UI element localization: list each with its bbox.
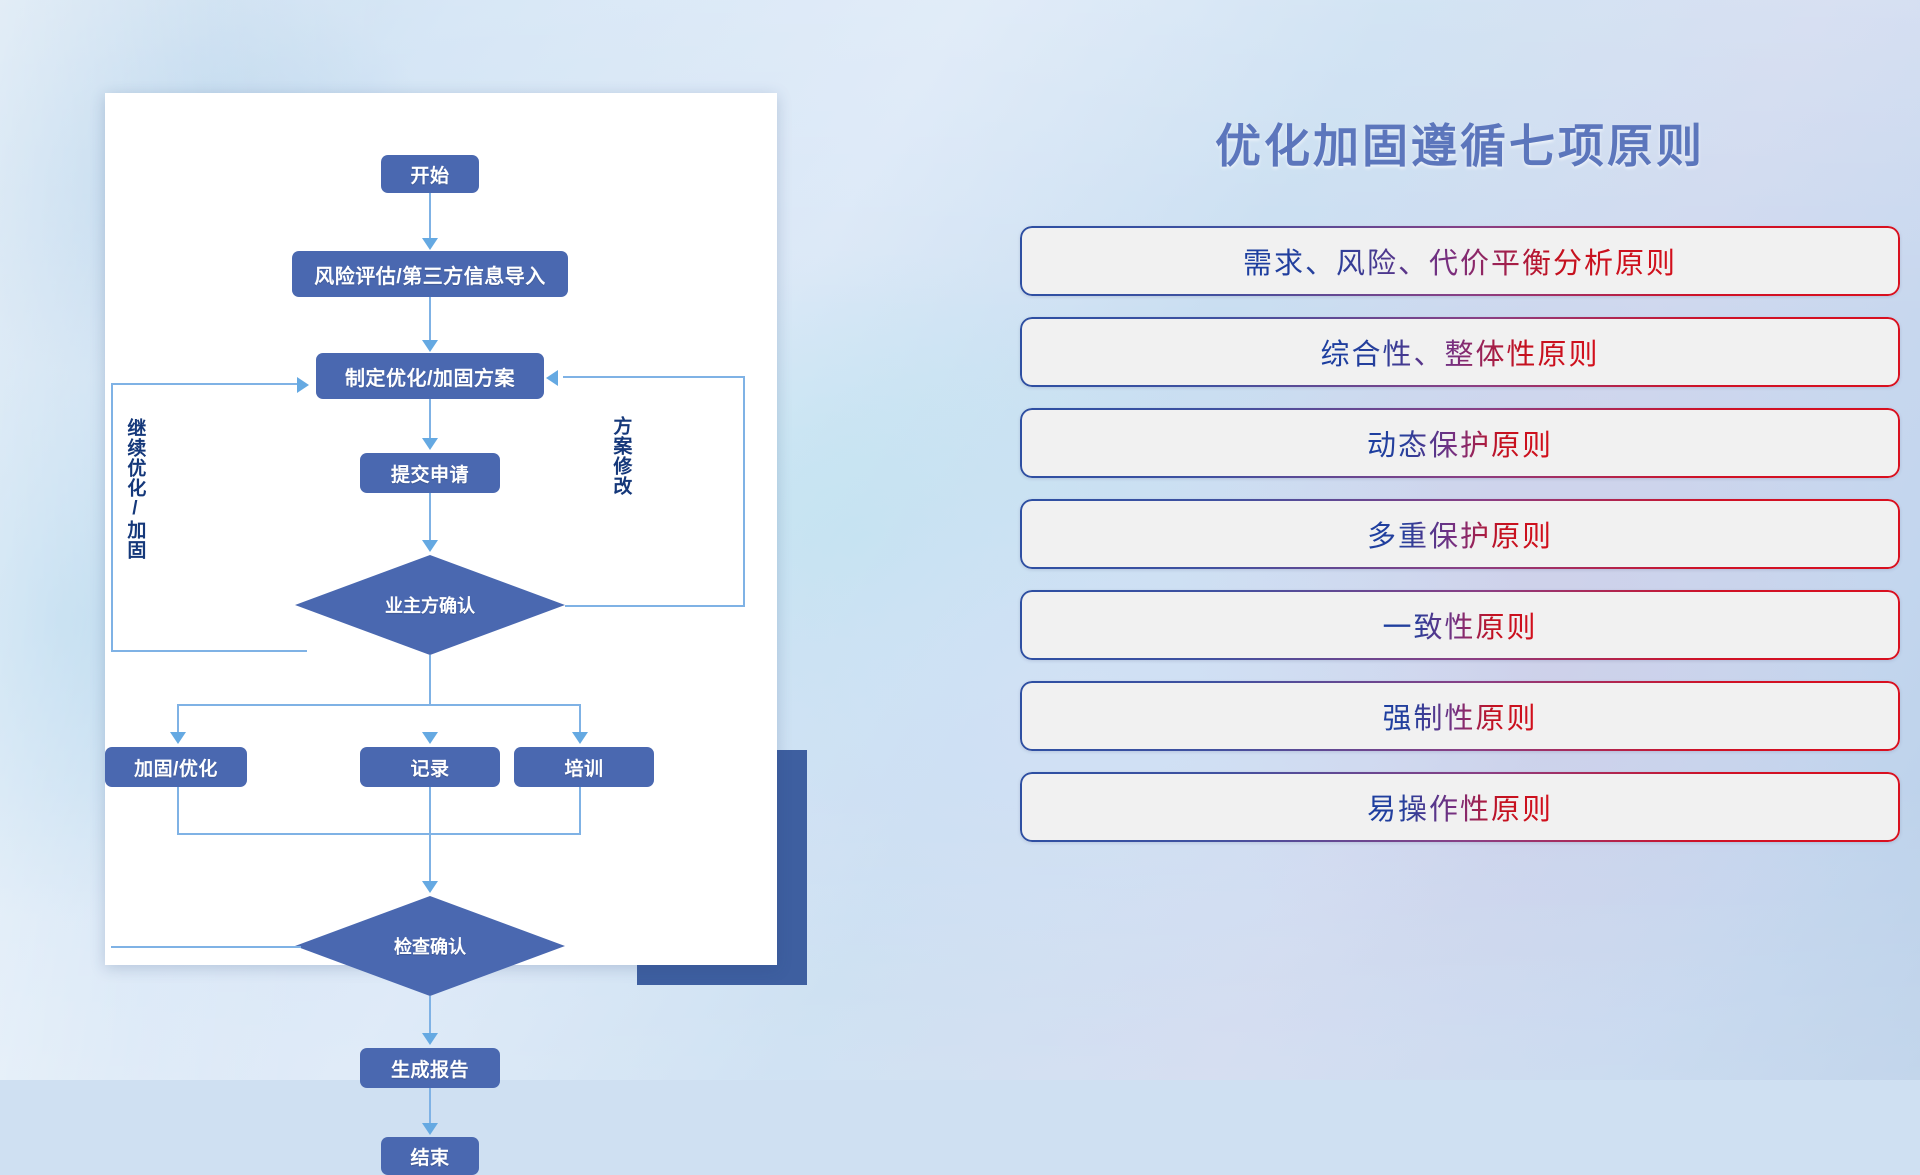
principles-list: 需求、风险、代价平衡分析原则 综合性、整体性原则 动态保护原则 多重保护原则 一… [1020, 226, 1900, 863]
arrow-to-reinforce-icon [170, 732, 186, 744]
arrow-to-record-icon [422, 732, 438, 744]
principle-card-2-label: 综合性、整体性原则 [1320, 331, 1599, 373]
flow-node-risk-assessment[interactable]: 风险评估/第三方信息导入 [292, 251, 568, 297]
flow-node-record-label: 记录 [410, 754, 449, 781]
page-title: 优化加固遵循七项原则 [1020, 110, 1900, 176]
flowchart-panel: 开始 风险评估/第三方信息导入 制定优化/加固方案 提交申请 业主方确认 [0, 0, 820, 1080]
flow-node-owner-confirm-label: 业主方确认 [385, 592, 475, 618]
flow-node-reinforce[interactable]: 加固/优化 [105, 747, 247, 787]
principle-card-3[interactable]: 动态保护原则 [1020, 408, 1900, 478]
flow-node-risk-assessment-label: 风险评估/第三方信息导入 [314, 260, 546, 289]
edge-check-to-report [429, 996, 431, 1036]
edge-fanout-left [177, 704, 179, 735]
edge-fanout-top [177, 704, 581, 706]
flow-node-end-label: 结束 [410, 1143, 449, 1170]
arrow-left-loop-to-plan-icon [297, 377, 309, 393]
flow-node-submit[interactable]: 提交申请 [360, 453, 500, 493]
flow-node-owner-confirm[interactable]: 业主方确认 [295, 555, 565, 655]
flow-node-training[interactable]: 培训 [514, 747, 654, 787]
principle-card-2[interactable]: 综合性、整体性原则 [1020, 317, 1900, 387]
edge-confirm-down-stem [429, 655, 431, 704]
edge-plan-to-submit [429, 399, 431, 443]
edge-right-loop-vertical [743, 376, 745, 607]
arrow-check-to-report-icon [422, 1033, 438, 1045]
principle-card-4[interactable]: 多重保护原则 [1020, 499, 1900, 569]
edge-label-plan-revision-text: 方案修改 [610, 416, 631, 496]
edge-fanout-right [579, 704, 581, 735]
principles-panel: 优化加固遵循七项原则 需求、风险、代价平衡分析原则 综合性、整体性原则 动态保护… [1020, 0, 1920, 1080]
flow-node-plan-label: 制定优化/加固方案 [345, 362, 515, 391]
edge-reinforce-down [177, 787, 179, 835]
principle-card-3-label: 动态保护原则 [1367, 422, 1553, 464]
arrow-risk-to-plan-icon [422, 340, 438, 352]
flow-node-report[interactable]: 生成报告 [360, 1048, 500, 1088]
flow-node-training-label: 培训 [564, 754, 603, 781]
principle-card-5[interactable]: 一致性原则 [1020, 590, 1900, 660]
flow-node-check[interactable]: 检查确认 [295, 896, 565, 996]
flow-node-check-label: 检查确认 [394, 933, 466, 959]
arrow-to-train-icon [572, 732, 588, 744]
edge-label-continue-optimize: 继续优化/加固 [125, 418, 144, 560]
flow-node-start-label: 开始 [410, 161, 449, 188]
flowchart-card: 开始 风险评估/第三方信息导入 制定优化/加固方案 提交申请 业主方确认 [105, 93, 777, 965]
principle-card-1-label: 需求、风险、代价平衡分析原则 [1243, 240, 1677, 282]
edge-right-loop-top [563, 376, 745, 378]
principle-card-6-label: 强制性原则 [1382, 695, 1537, 737]
edge-check-to-left-loop [111, 946, 301, 948]
flow-node-start[interactable]: 开始 [381, 155, 479, 193]
edge-record-down-to-check [429, 787, 431, 884]
arrow-start-to-risk-icon [422, 238, 438, 250]
edge-train-down [579, 787, 581, 835]
flow-node-record[interactable]: 记录 [360, 747, 500, 787]
arrow-plan-to-submit-icon [422, 438, 438, 450]
flow-node-reinforce-label: 加固/优化 [134, 754, 218, 781]
principle-card-6[interactable]: 强制性原则 [1020, 681, 1900, 751]
flow-node-report-label: 生成报告 [391, 1055, 469, 1082]
edge-risk-to-plan [429, 297, 431, 343]
edge-left-loop-vertical [111, 383, 113, 652]
edge-label-plan-revision: 方案修改 [611, 416, 630, 496]
edge-submit-to-confirm [429, 493, 431, 543]
principle-card-1[interactable]: 需求、风险、代价平衡分析原则 [1020, 226, 1900, 296]
edge-right-loop-bottom [565, 605, 745, 607]
edge-report-to-end [429, 1088, 431, 1126]
edge-left-loop-top [111, 383, 298, 385]
arrow-right-loop-to-plan-icon [546, 370, 558, 386]
principle-card-7-label: 易操作性原则 [1367, 786, 1553, 828]
arrow-report-to-end-icon [422, 1123, 438, 1135]
arrow-submit-to-confirm-icon [422, 540, 438, 552]
edge-start-to-risk [429, 193, 431, 241]
edge-merge-bar [177, 833, 581, 835]
flow-node-submit-label: 提交申请 [391, 460, 469, 487]
principle-card-7[interactable]: 易操作性原则 [1020, 772, 1900, 842]
arrow-to-check-icon [422, 881, 438, 893]
flow-node-end[interactable]: 结束 [381, 1137, 479, 1175]
principle-card-5-label: 一致性原则 [1382, 604, 1537, 646]
edge-label-continue-optimize-text: 继续优化/加固 [124, 418, 145, 560]
flow-node-plan[interactable]: 制定优化/加固方案 [316, 353, 544, 399]
principle-card-4-label: 多重保护原则 [1367, 513, 1553, 555]
edge-left-loop-bottom [111, 650, 307, 652]
